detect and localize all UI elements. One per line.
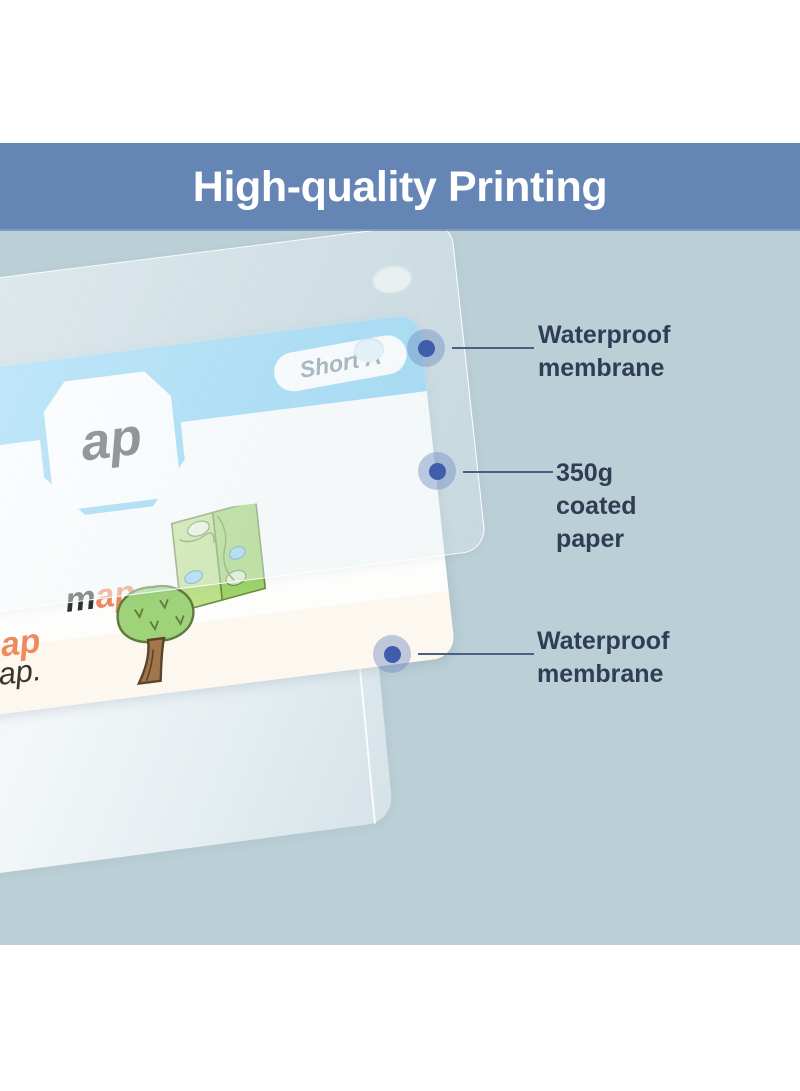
callout-leader-line (418, 653, 534, 655)
callout-dot-core (384, 646, 401, 663)
punch-hole-icon (371, 263, 414, 296)
callout-dot-core (429, 463, 446, 480)
callout-label: Waterproof membrane (538, 319, 670, 385)
banner: High-quality Printing (0, 143, 800, 231)
illustration-stage: 1A set ap Short A cap map sap (0, 231, 800, 945)
callout-dot (373, 635, 411, 673)
callout-leader-line (452, 347, 534, 349)
callout-label: 350g coated paper (556, 457, 637, 556)
callout-dot (418, 452, 456, 490)
callout-dot (407, 329, 445, 367)
page-root: High-quality Printing 1A set ap Short A (0, 0, 800, 1091)
callout-dot-core (418, 340, 435, 357)
callout-label: Waterproof membrane (537, 625, 669, 691)
page-title: High-quality Printing (193, 166, 607, 209)
callout-leader-line (463, 471, 553, 473)
